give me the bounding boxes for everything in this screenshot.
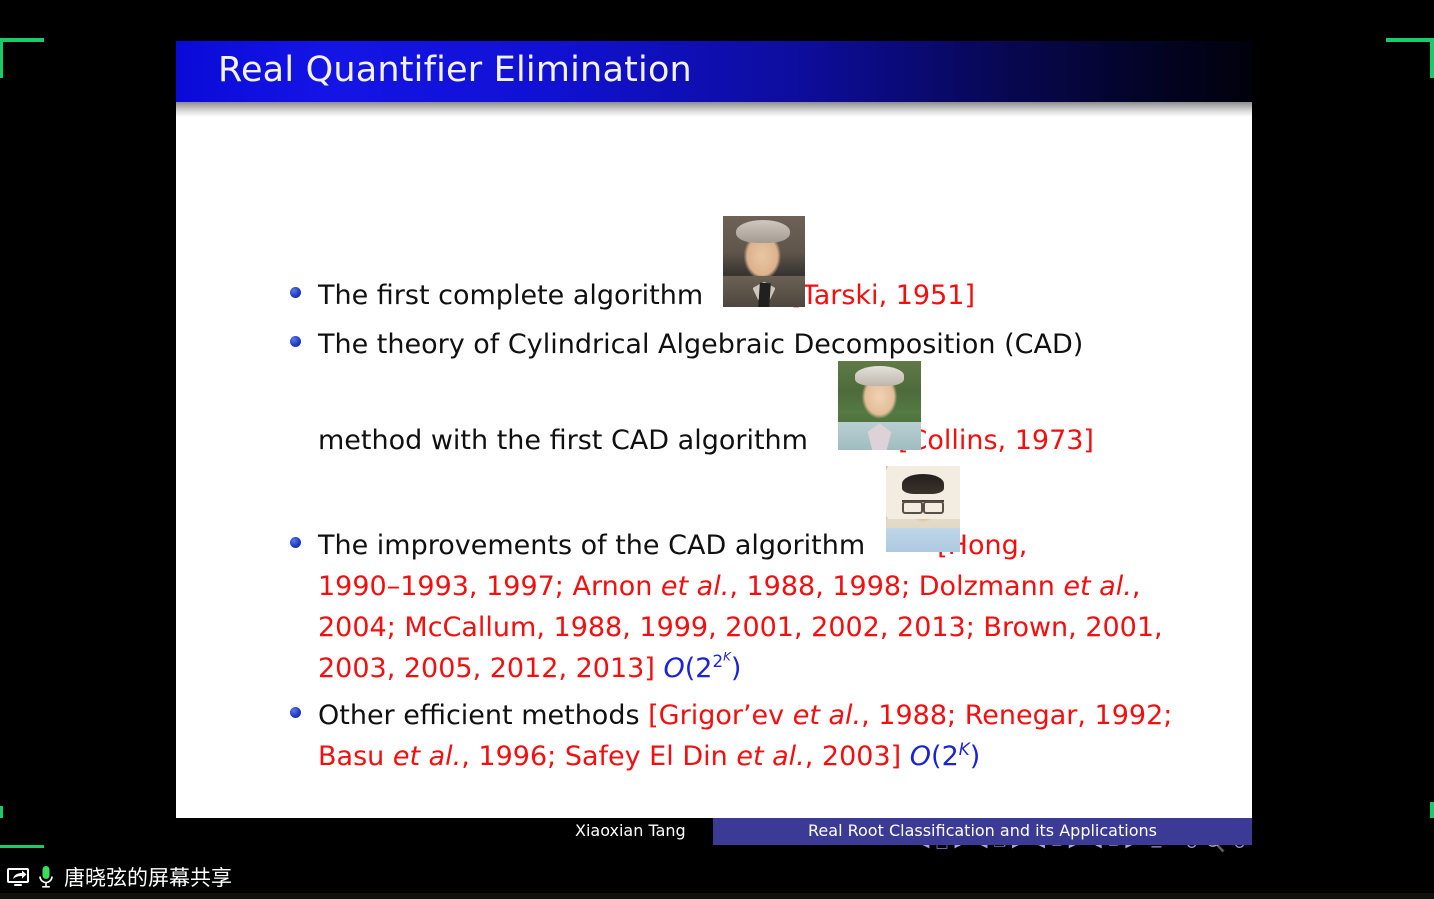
bullet-item-cad: The theory of Cylindrical Algebraic Deco… [290, 324, 1083, 365]
complexity-hong-paren-open: ( [685, 653, 696, 684]
hong-portrait [886, 466, 960, 552]
microphone-icon[interactable] [38, 865, 54, 889]
footer-title-segment: Real Root Classification and its Applica… [713, 818, 1252, 845]
presentation-slide: Real Quantifier Elimination The first co… [176, 41, 1252, 846]
screenshare-border-top-left [0, 38, 44, 78]
bullet-item-tarski: The first complete algorithm[Tarski, 195… [290, 275, 975, 316]
complexity-hong: O(22K) [663, 653, 741, 684]
complexity-other-paren-open: ( [931, 741, 942, 772]
bullet-text-tarski-label: The first complete algorithm [318, 280, 703, 311]
screen-share-icon[interactable] [6, 867, 30, 887]
bullet-dot-icon [290, 336, 301, 347]
citation-other-l1-b: , 1988; Renegar, 1992; [861, 700, 1172, 731]
bullet-text-tarski: The first complete algorithm[Tarski, 195… [318, 275, 975, 316]
screenshare-border-top-right [1386, 38, 1434, 78]
citation-other-l1-etal: et al. [793, 700, 861, 731]
citation-hong-l2-a: 1990–1993, 1997; Arnon [318, 571, 661, 602]
citation-other-line2: Basu et al., 1996; Safey El Din et al., … [318, 741, 901, 772]
citation-hong-line3: 2004; McCallum, 1988, 1999, 2001, 2002, … [318, 612, 1163, 643]
complexity-hong-exp-k: K [723, 649, 731, 663]
complexity-other-exp-k: K [959, 739, 970, 759]
bullet-text-cad-line1: The theory of Cylindrical Algebraic Deco… [318, 324, 1083, 365]
slide-footer-bar: Xiaoxian Tang Real Root Classification a… [0, 818, 1434, 845]
citation-hong-l2-c: , [1132, 571, 1141, 602]
citation-other-line1: [Grigor’ev et al., 1988; Renegar, 1992; [648, 700, 1172, 731]
bullet-dot-icon [290, 537, 301, 548]
complexity-hong-paren-close: ) [731, 653, 742, 684]
bullet-text-hong-label: The improvements of the CAD algorithm [318, 530, 865, 561]
footer-title: Real Root Classification and its Applica… [713, 821, 1252, 840]
bullet-item-hong: The improvements of the CAD algorithm[Ho… [290, 525, 1188, 689]
complexity-other-o: O [910, 741, 931, 772]
taskbar-bottom-strip [0, 893, 1434, 899]
bullet-item-other: Other efficient methods [Grigor’ev et al… [290, 695, 1198, 777]
citation-other-l2-a: Basu [318, 741, 393, 772]
citation-hong-l2-b: , 1988, 1998; Dolzmann [729, 571, 1063, 602]
complexity-other-paren-close: ) [970, 741, 981, 772]
citation-collins: [Collins, 1973] [898, 425, 1094, 456]
slide-body: The first complete algorithm[Tarski, 195… [176, 117, 1252, 818]
bullet-text-other: Other efficient methods [Grigor’ev et al… [318, 695, 1198, 777]
complexity-hong-o: O [663, 653, 684, 684]
complexity-other: O(2K) [910, 741, 981, 772]
complexity-hong-exp-base: 2 [712, 651, 723, 671]
citation-other-l2-etal: et al. [393, 741, 461, 772]
citation-hong-l2-etal2: et al. [1063, 571, 1131, 602]
citation-other-l2-b: , 1996; Safey El Din [461, 741, 736, 772]
citation-other-l1-a: [Grigor’ev [648, 700, 793, 731]
complexity-hong-exponent: 2K [712, 651, 730, 671]
collins-portrait [838, 361, 921, 450]
bullet-dot-icon [290, 707, 301, 718]
slide-title-bar: Real Quantifier Elimination [176, 41, 1252, 102]
complexity-other-base: 2 [942, 741, 959, 772]
citation-hong-line2: 1990–1993, 1997; Arnon et al., 1988, 199… [318, 571, 1140, 602]
screenshare-label: 唐晓弦的屏幕共享 [64, 862, 232, 892]
slide-title-shadow [176, 102, 1252, 117]
citation-other-l2-etal2: et al. [736, 741, 804, 772]
citation-tarski: [Tarski, 1951] [791, 280, 975, 311]
bullet-item-cad-continuation: method with the first CAD algorithm[Coll… [318, 420, 1094, 461]
bullet-text-hong: The improvements of the CAD algorithm[Ho… [318, 525, 1188, 689]
citation-hong-line4: 2003, 2005, 2012, 2013] [318, 653, 655, 684]
bullet-dot-icon [290, 287, 301, 298]
complexity-hong-base: 2 [695, 653, 712, 684]
bullet-text-cad-line2-label: method with the first CAD algorithm [318, 425, 808, 456]
slide-title: Real Quantifier Elimination [218, 50, 692, 90]
footer-author: Xiaoxian Tang [575, 821, 686, 840]
citation-hong-l2-etal: et al. [661, 571, 729, 602]
tarski-portrait [723, 216, 805, 307]
bullet-text-cad-line2: method with the first CAD algorithm[Coll… [318, 420, 1094, 461]
citation-other-l2-c: , 2003] [805, 741, 901, 772]
bullet-text-other-label: Other efficient methods [318, 700, 640, 731]
